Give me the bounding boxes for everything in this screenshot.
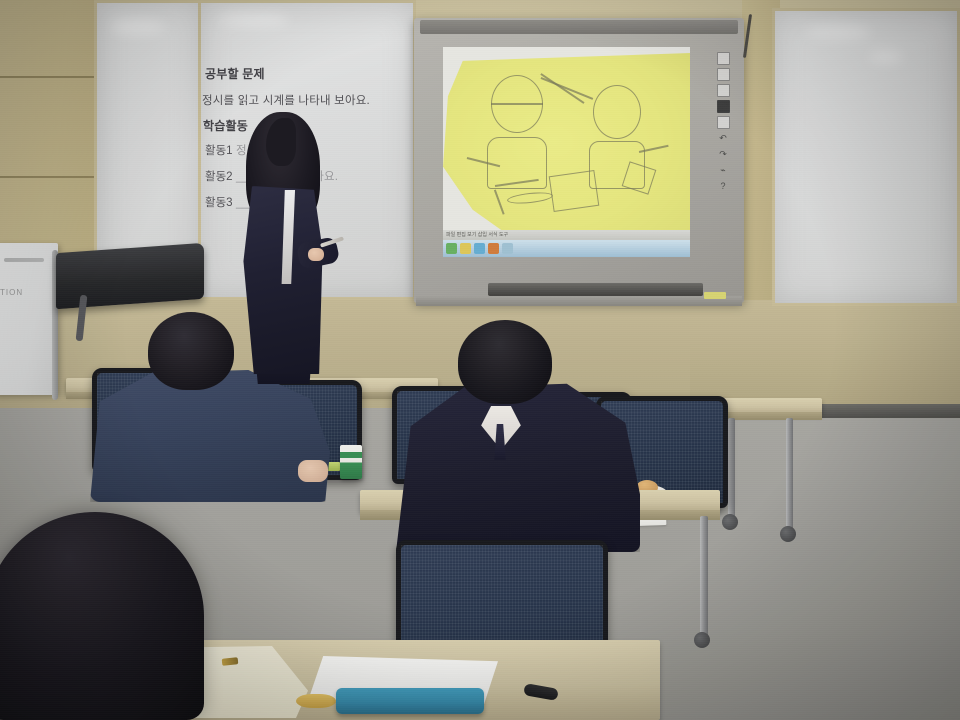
undo-icon[interactable]: ↶ [717,132,730,145]
table-leg [728,418,735,518]
slide-app-menubar[interactable]: 파일 편집 보기 삽입 서식 도구 [443,230,690,240]
attendee-center-head [458,320,552,404]
explorer-icon[interactable] [460,243,471,254]
table-leg [786,418,793,530]
drawing-head-right [593,85,641,139]
right-wall-lower [690,330,960,408]
highlight-button[interactable] [717,116,730,129]
tray-icon[interactable] [502,243,513,254]
start-orb-icon[interactable] [446,243,457,254]
save-icon[interactable]: ⌁ [717,164,730,177]
smartboard-top-rail [420,20,738,34]
select-button[interactable] [717,84,730,97]
classroom-photo: 공부할 문제 정시를 읽고 시계를 나타내 보아요. 학습활동 활동1 정 __… [0,0,960,720]
milk-carton [340,445,362,479]
yellow-object [296,694,336,708]
eraser-button[interactable] [717,68,730,81]
cabinet-brand-label: TION [0,288,48,297]
whiteboard-panel-right [772,8,960,306]
attendee-center [392,320,642,552]
drawing-hat-brim-left [491,103,543,105]
visualizer-monitor [56,243,204,309]
cabinet-slot [4,258,44,262]
app-icon[interactable] [488,243,499,254]
lesson-heading: 공부할 문제 [205,68,265,80]
fill-button[interactable] [717,100,730,113]
media-icon[interactable] [474,243,485,254]
table-caster [780,526,796,542]
attendee-left-body [90,370,330,502]
smartboard-logo [704,292,726,299]
av-cabinet [0,243,58,395]
attendee-left-hand [298,460,328,482]
slide-yellow-background [443,53,690,249]
drawing-desk [549,170,600,212]
pen-button[interactable] [717,52,730,65]
table-caster [722,514,738,530]
presenter-hand [308,248,324,261]
milk-carton-band [340,452,362,458]
attendee-left-head [148,312,234,390]
lesson-objective: 정시를 읽고 시계를 나타내 보아요. [202,96,370,108]
smartboard-pen-tray[interactable] [488,283,703,296]
projected-slide[interactable]: 파일 편집 보기 삽입 서식 도구 [443,47,690,257]
attendee-center-body [396,382,640,552]
attendee-foreground-head [0,512,204,720]
table-caster [694,632,710,648]
smartboard-tool-column[interactable]: ↶ ↷ ⌁ ? [712,52,734,264]
table-leg [700,516,708,636]
slide-taskbar[interactable] [443,240,690,257]
redo-icon[interactable]: ↷ [717,148,730,161]
presenter-bangs [266,118,296,166]
help-icon[interactable]: ? [717,180,730,193]
pencil-case [336,688,484,714]
smartboard-bottom-bar [416,296,742,306]
